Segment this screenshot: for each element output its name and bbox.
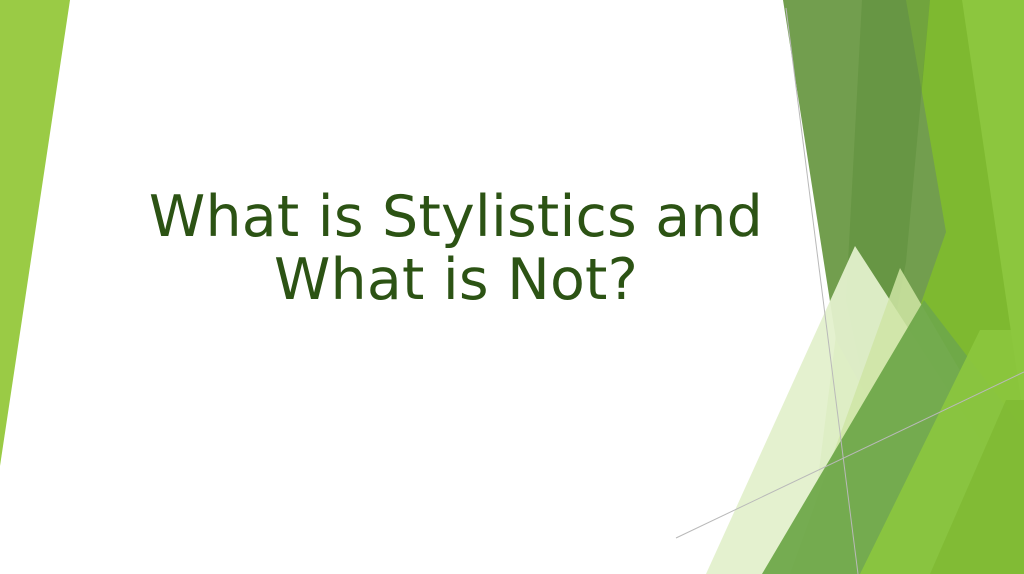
thin-gray-diagonal-hairline-lower: [676, 372, 1024, 538]
bright-green-bottom-corner: [860, 330, 1024, 574]
slide-title: What is Stylistics and What is Not?: [96, 186, 816, 311]
right-deep-green-vee: [846, 0, 930, 430]
yellow-green-bottom-sliver: [930, 400, 1024, 574]
slide-canvas: What is Stylistics and What is Not?: [0, 0, 1024, 574]
mid-green-lower-mass: [762, 300, 1024, 574]
slide-title-line-2: What is Not?: [96, 249, 816, 312]
left-green-wedge: [0, 0, 70, 466]
light-green-wedge: [790, 268, 1024, 574]
right-base-bright-polygon: [836, 0, 1024, 574]
right-yellow-green-column: [806, 0, 1024, 574]
slide-title-line-1: What is Stylistics and: [96, 186, 816, 249]
